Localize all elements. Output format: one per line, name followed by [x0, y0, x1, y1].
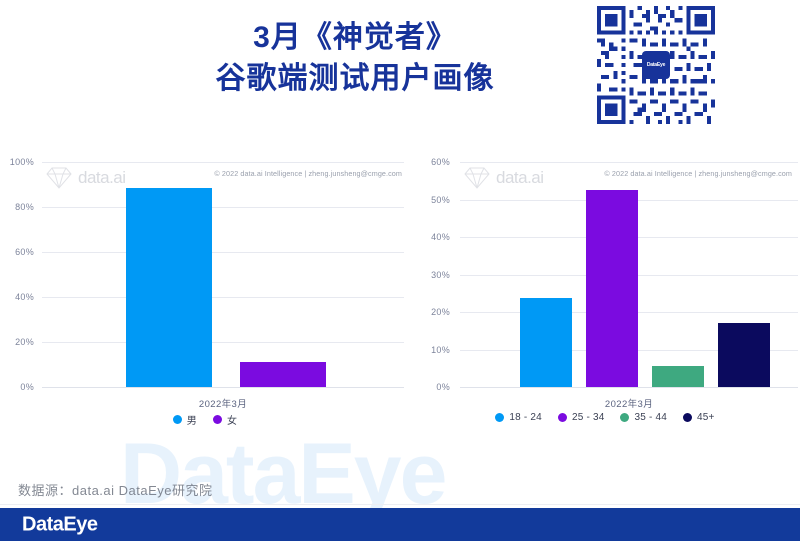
gridline — [460, 387, 798, 388]
legend-color-dot — [558, 413, 567, 422]
y-tick-label: 20% — [15, 337, 34, 347]
legend-label: 25 - 34 — [572, 412, 605, 423]
copyright-right: © 2022 data.ai Intelligence | zheng.juns… — [604, 169, 792, 178]
chart-age-y-axis: 0%10%20%30%40%50%60% — [410, 162, 456, 387]
chart-gender-y-axis: 0%20%40%60%80%100% — [0, 162, 40, 387]
y-tick-label: 20% — [431, 307, 450, 317]
bar-35-44 — [652, 366, 704, 387]
y-tick-label: 0% — [20, 382, 34, 392]
y-tick-label: 0% — [436, 382, 450, 392]
y-tick-label: 40% — [15, 292, 34, 302]
bar-18-24 — [520, 298, 572, 387]
chart-age-x-label: 2022年3月 — [460, 396, 798, 410]
legend-color-dot — [620, 413, 629, 422]
chart-age-plot — [460, 162, 798, 387]
chart-age: 0%10%20%30%40%50%60% data.ai © 2022 data… — [410, 150, 800, 460]
legend-label: 35 - 44 — [634, 412, 667, 423]
legend-color-dot — [495, 413, 504, 422]
legend-color-dot — [173, 415, 182, 424]
legend-label: 45+ — [697, 412, 715, 423]
copyright-left: © 2022 data.ai Intelligence | zheng.juns… — [214, 169, 402, 178]
qr-code[interactable]: DataEye — [597, 6, 715, 124]
chart-age-legend: 18 - 2425 - 3435 - 4445+ — [410, 412, 800, 423]
y-tick-label: 30% — [431, 270, 450, 280]
y-tick-label: 50% — [431, 195, 450, 205]
y-tick-label: 60% — [431, 157, 450, 167]
legend-item[interactable]: 男 — [173, 412, 197, 427]
chart-gender-bars — [42, 162, 404, 387]
chart-gender-plot — [42, 162, 404, 387]
bar-45+ — [718, 323, 770, 387]
footer-divider — [0, 504, 800, 505]
y-tick-label: 100% — [10, 157, 34, 167]
legend-label: 男 — [187, 412, 197, 427]
y-tick-label: 40% — [431, 232, 450, 242]
legend-label: 18 - 24 — [509, 412, 542, 423]
y-tick-label: 10% — [431, 345, 450, 355]
legend-label: 女 — [227, 412, 237, 427]
page-title-line2: 谷歌端测试用户画像 — [120, 59, 590, 100]
legend-item[interactable]: 18 - 24 — [495, 412, 542, 423]
page-title-line1: 3月《神觉者》 — [120, 18, 590, 59]
qr-center-logo: DataEye — [642, 51, 670, 79]
y-tick-label: 80% — [15, 202, 34, 212]
legend-item[interactable]: 35 - 44 — [620, 412, 667, 423]
legend-item[interactable]: 25 - 34 — [558, 412, 605, 423]
y-tick-label: 60% — [15, 247, 34, 257]
qr-center-label: DataEye — [647, 62, 665, 68]
dataeye-logo: DataEye — [22, 513, 97, 536]
legend-item[interactable]: 女 — [213, 412, 237, 427]
chart-gender: 0%20%40%60%80%100% data.ai © 2022 data.a… — [0, 150, 410, 460]
legend-item[interactable]: 45+ — [683, 412, 715, 423]
gridline — [42, 387, 404, 388]
slide-header: 3月《神觉者》 谷歌端测试用户画像 — [0, 0, 800, 132]
chart-age-bars — [460, 162, 798, 387]
chart-gender-x-label: 2022年3月 — [42, 396, 404, 410]
data-source-note: 数据源：data.ai DataEye研究院 — [18, 480, 213, 499]
bar-女 — [240, 362, 326, 387]
slide-root: 3月《神觉者》 谷歌端测试用户画像 — [0, 0, 800, 541]
bar-男 — [126, 188, 212, 387]
legend-color-dot — [213, 415, 222, 424]
legend-color-dot — [683, 413, 692, 422]
footer-bar: DataEye — [0, 508, 800, 541]
bar-25-34 — [586, 190, 638, 387]
chart-gender-legend: 男女 — [0, 412, 410, 427]
charts-area: DataEye 0%20%40%60%80%100% data.ai © 202… — [0, 150, 800, 460]
page-title: 3月《神觉者》 谷歌端测试用户画像 — [120, 18, 590, 99]
